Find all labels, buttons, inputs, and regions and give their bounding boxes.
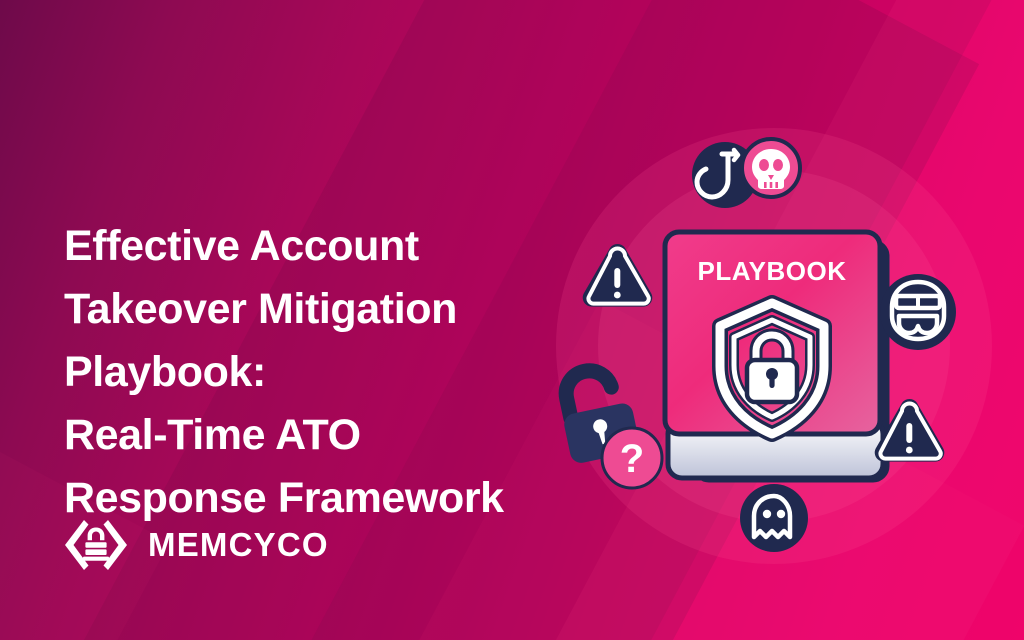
question-mark-icon: ? xyxy=(602,428,662,488)
warning-icon-left xyxy=(583,244,653,307)
question-glyph: ? xyxy=(620,437,644,481)
marketing-banner: Effective Account Takeover Mitigation Pl… xyxy=(0,0,1024,640)
playbook-book: PLAYBOOK xyxy=(665,232,887,480)
title-line-2: Takeover Mitigation xyxy=(64,278,584,341)
title-line-4: Real-Time ATO xyxy=(64,404,584,467)
illustration-svg: PLAYBOOK xyxy=(540,120,1010,580)
hacker-mask-icon xyxy=(880,274,956,350)
title-line-1: Effective Account xyxy=(64,215,584,278)
title-line-3: Playbook: xyxy=(64,341,584,404)
brand-wordmark: MEMCYCO xyxy=(148,526,329,564)
brand-logo: MEMCYCO xyxy=(62,514,329,576)
brackets-lock-logo-icon xyxy=(62,514,130,576)
ato-playbook-illustration: PLAYBOOK xyxy=(540,120,1010,580)
ghost-icon xyxy=(740,484,808,552)
page-title: Effective Account Takeover Mitigation Pl… xyxy=(64,215,584,530)
book-cover-title: PLAYBOOK xyxy=(698,256,847,286)
shield-lock-icon xyxy=(720,303,824,434)
skull-icon xyxy=(742,139,800,197)
